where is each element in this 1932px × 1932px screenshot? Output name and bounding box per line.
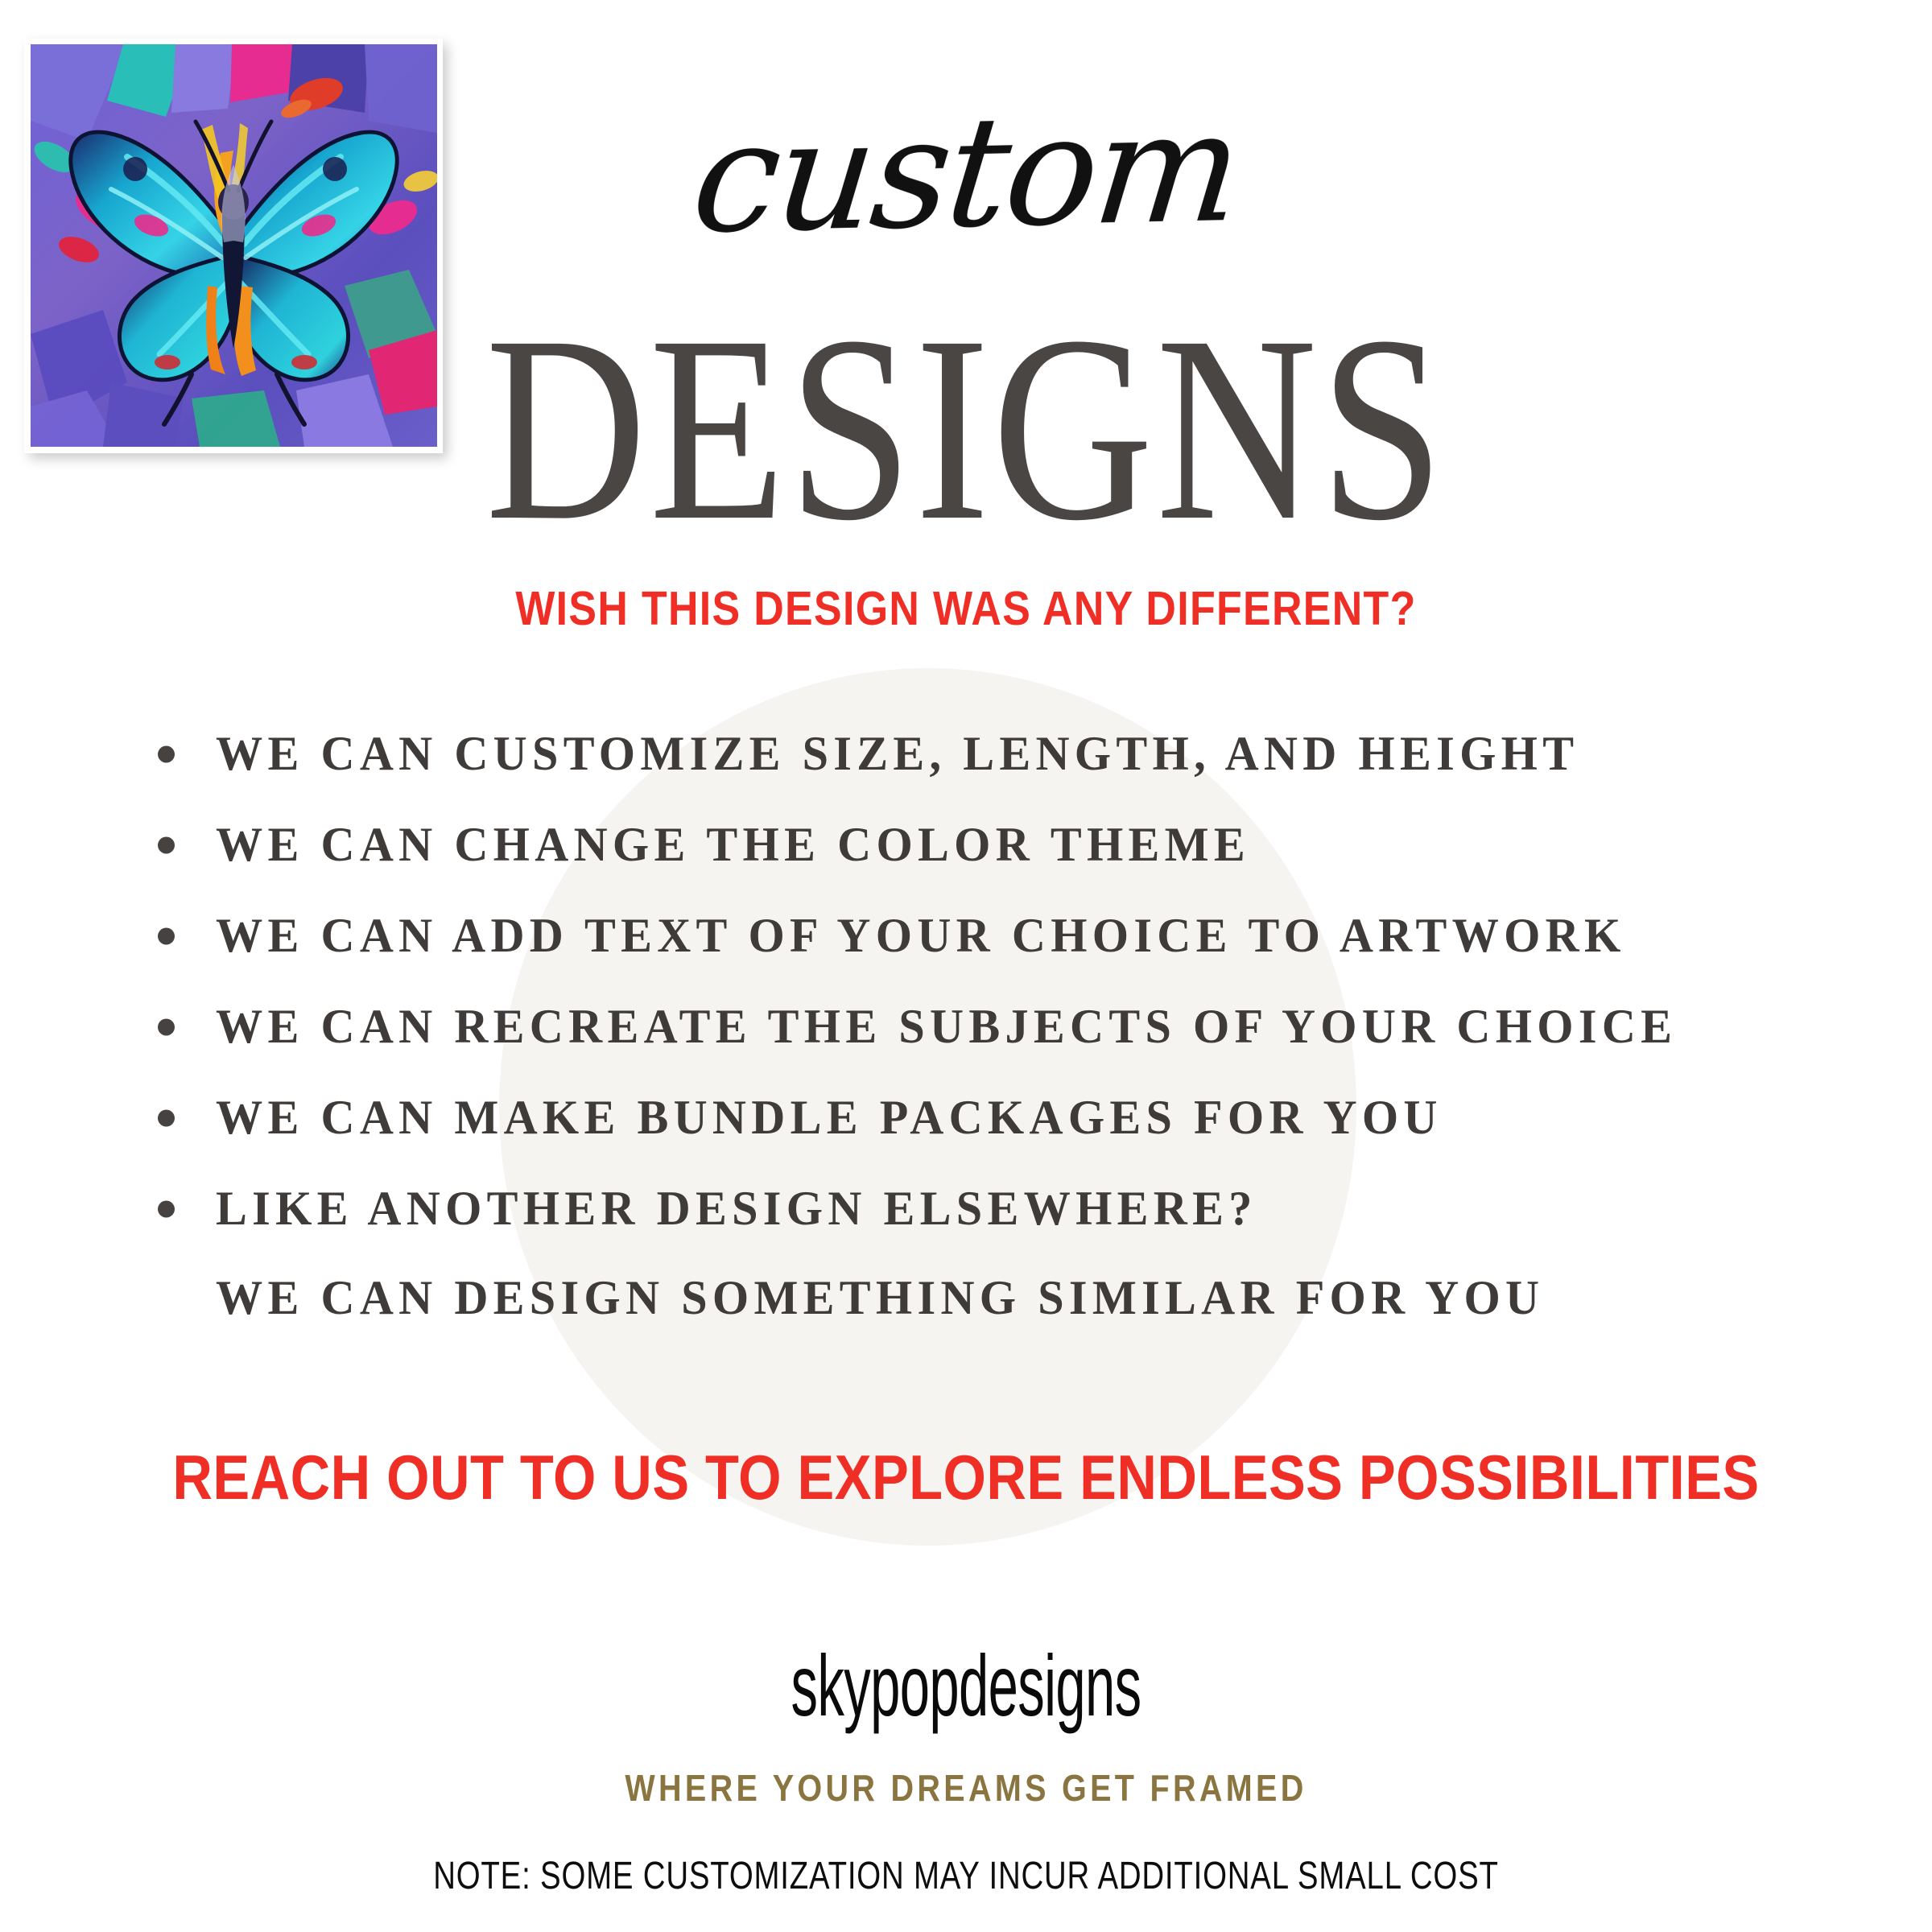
poster-canvas: custom DESIGNS WISH THIS DESIGN WAS ANY … [0, 0, 1932, 1932]
list-item: WE CAN MAKE BUNDLE PACKAGES FOR YOU [0, 1072, 1932, 1163]
call-to-action-text: REACH OUT TO US TO EXPLORE ENDLESS POSSI… [116, 1446, 1816, 1509]
list-item-continuation-label: WE CAN DESIGN SOMETHING SIMILAR FOR YOU [216, 1270, 1544, 1326]
feature-list: WE CAN CUSTOMIZE SIZE, LENGTH, AND HEIGH… [0, 708, 1932, 1341]
list-item: WE CAN ADD TEXT OF YOUR CHOICE TO ARTWOR… [0, 890, 1932, 981]
list-item: WE CAN CHANGE THE COLOR THEME [0, 799, 1932, 890]
page-title-designs: DESIGNS [155, 320, 1777, 539]
brand-logo-text: skypopdesigns [367, 1642, 1565, 1729]
bullet-dot-icon [158, 836, 175, 853]
bullet-dot-icon [158, 1200, 175, 1217]
bullet-dot-icon [158, 927, 175, 944]
list-item-continuation: WE CAN DESIGN SOMETHING SIMILAR FOR YOU [0, 1254, 1932, 1341]
list-item-label: WE CAN RECREATE THE SUBJECTS OF YOUR CHO… [216, 999, 1677, 1055]
bullet-dot-icon [158, 1018, 175, 1035]
footnote-disclaimer: NOTE: SOME CUSTOMIZATION MAY INCUR ADDIT… [193, 1857, 1739, 1896]
list-item-label: WE CAN MAKE BUNDLE PACKAGES FOR YOU [216, 1090, 1443, 1146]
brand-tagline: WHERE YOUR DREAMS GET FRAMED [135, 1769, 1797, 1806]
list-item-label: WE CAN ADD TEXT OF YOUR CHOICE TO ARTWOR… [216, 908, 1626, 964]
list-item: WE CAN CUSTOMIZE SIZE, LENGTH, AND HEIGH… [0, 708, 1932, 799]
subheading-question: WISH THIS DESIGN WAS ANY DIFFERENT? [116, 585, 1816, 633]
bullet-dot-icon [158, 745, 175, 762]
bullet-dot-icon [158, 1109, 175, 1126]
list-item-label: WE CAN CUSTOMIZE SIZE, LENGTH, AND HEIGH… [216, 726, 1579, 782]
list-item-label: WE CAN CHANGE THE COLOR THEME [216, 817, 1250, 873]
list-item: LIKE ANOTHER DESIGN ELSEWHERE? [0, 1163, 1932, 1254]
list-item-label: LIKE ANOTHER DESIGN ELSEWHERE? [216, 1181, 1257, 1236]
list-item: WE CAN RECREATE THE SUBJECTS OF YOUR CHO… [0, 981, 1932, 1072]
